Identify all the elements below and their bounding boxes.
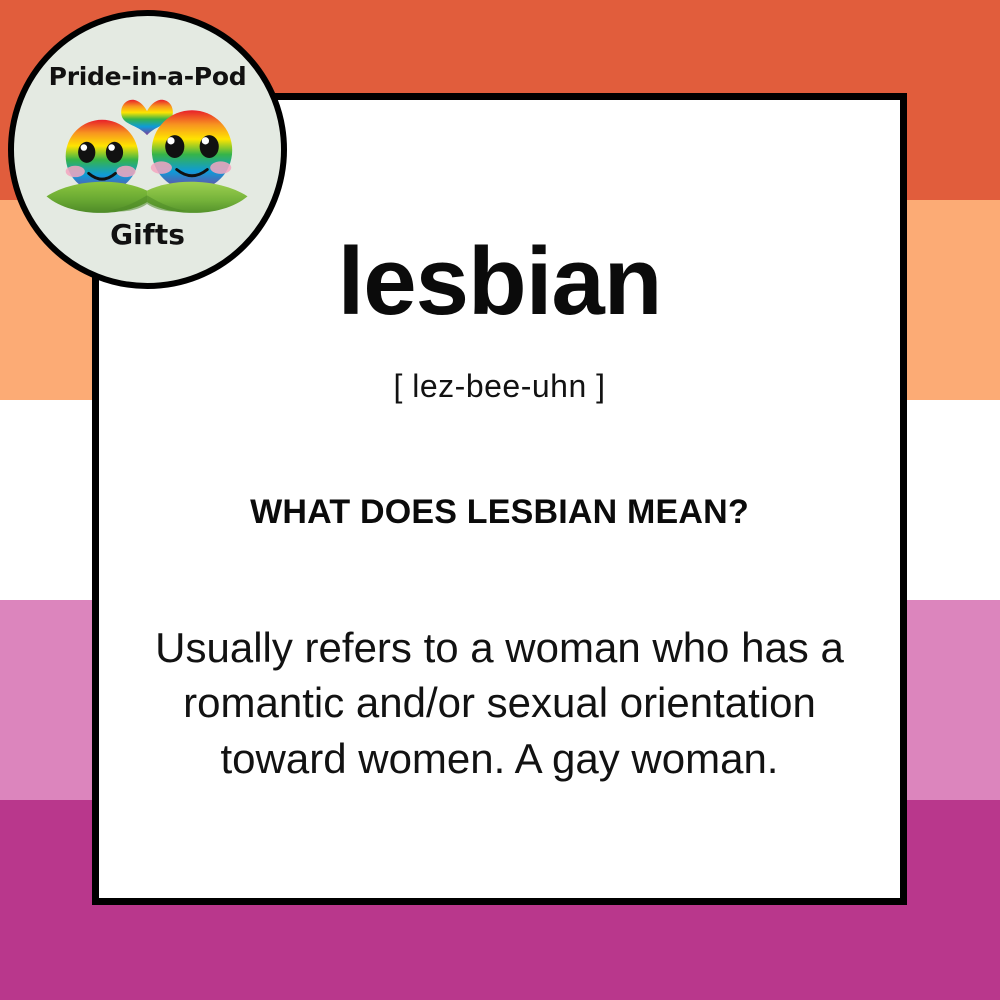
brand-name-bottom: Gifts [14, 218, 281, 251]
pea-pod-logo-art [14, 94, 281, 224]
section-heading: WHAT DOES LESBIAN MEAN? [125, 493, 874, 532]
pea-pod-icon [47, 182, 248, 213]
pronunciation-text: [ lez-bee-uhn ] [125, 368, 874, 405]
brand-logo-badge[interactable]: Pride-in-a-Pod [8, 10, 287, 289]
brand-name-top: Pride-in-a-Pod [14, 62, 281, 91]
definition-text: Usually refers to a woman who has a roma… [130, 620, 870, 786]
pride-definition-graphic: lesbian [ lez-bee-uhn ] WHAT DOES LESBIA… [0, 0, 1000, 1000]
left-pea-face-icon [66, 120, 139, 193]
